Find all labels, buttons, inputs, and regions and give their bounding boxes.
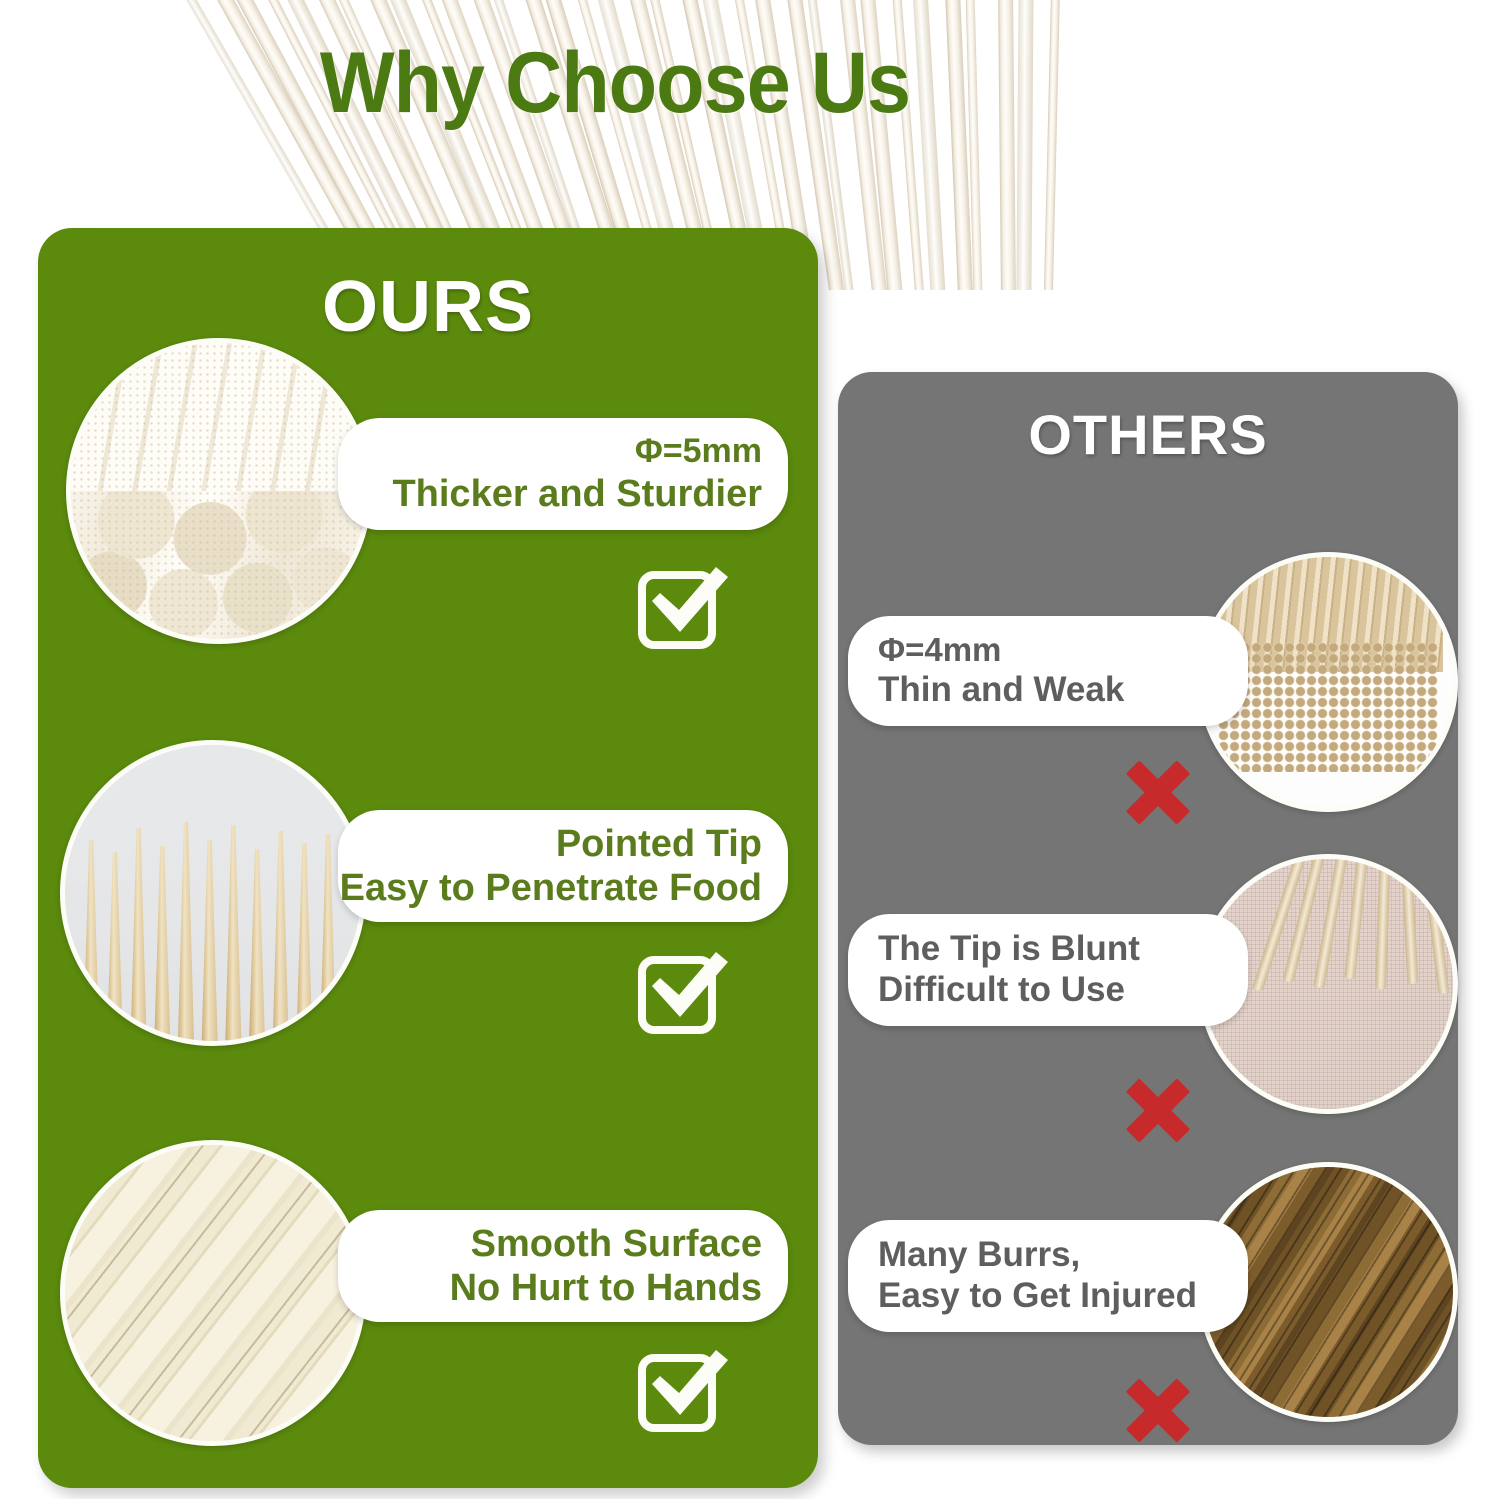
check-tick-icon-3 — [648, 1346, 734, 1424]
cross-mark-icon-1 — [1120, 754, 1196, 830]
others-label-2: The Tip is Blunt Difficult to Use — [848, 914, 1248, 1026]
others-label-2-line-1: The Tip is Blunt — [878, 929, 1140, 970]
ours-photo-2-pointed-tips — [60, 740, 366, 1046]
pointed-tips-texture — [65, 745, 361, 1041]
ours-label-2-line-1: Pointed Tip — [556, 822, 762, 866]
others-label-3: Many Burrs, Easy to Get Injured — [848, 1220, 1248, 1332]
others-label-1: Φ=4mm Thin and Weak — [848, 616, 1248, 726]
ours-label-1: Φ=5mm Thicker and Sturdier — [338, 418, 788, 530]
ours-label-1-line-1: Φ=5mm — [635, 432, 762, 472]
cross-mark-icon-2 — [1120, 1072, 1196, 1148]
ours-label-3: Smooth Surface No Hurt to Hands — [338, 1210, 788, 1322]
ours-label-2: Pointed Tip Easy to Penetrate Food — [338, 810, 788, 922]
ours-photo-3-smooth-surface — [60, 1140, 366, 1446]
others-label-1-line-2: Thin and Weak — [878, 670, 1124, 711]
check-mark-icon-2 — [638, 948, 734, 1034]
others-label-1-line-1: Φ=4mm — [878, 631, 1001, 670]
ours-panel: OURS Φ=5mm Thicker and Sturdier Pointed … — [38, 228, 818, 1488]
ours-label-3-line-1: Smooth Surface — [471, 1222, 762, 1266]
others-panel-title: OTHERS — [838, 402, 1458, 467]
check-mark-icon-1 — [638, 563, 734, 649]
check-mark-icon-3 — [638, 1346, 734, 1432]
others-label-3-line-1: Many Burrs, — [878, 1235, 1080, 1276]
cross-mark-icon-3 — [1120, 1372, 1196, 1448]
others-panel: OTHERS Φ=4mm Thin and Weak The Tip is Bl… — [838, 372, 1458, 1445]
check-tick-icon-2 — [648, 948, 734, 1026]
check-tick-icon-1 — [648, 563, 734, 641]
ours-panel-title: OURS — [38, 266, 818, 348]
page-title: Why Choose Us — [49, 38, 1181, 128]
others-label-3-line-2: Easy to Get Injured — [878, 1276, 1197, 1317]
ours-photo-1-bamboo-rod-crosssection — [66, 338, 372, 644]
ours-label-2-line-2: Easy to Penetrate Food — [340, 866, 762, 910]
others-label-2-line-2: Difficult to Use — [878, 970, 1125, 1011]
ours-label-3-line-2: No Hurt to Hands — [450, 1266, 762, 1310]
ours-label-1-line-2: Thicker and Sturdier — [392, 472, 762, 516]
